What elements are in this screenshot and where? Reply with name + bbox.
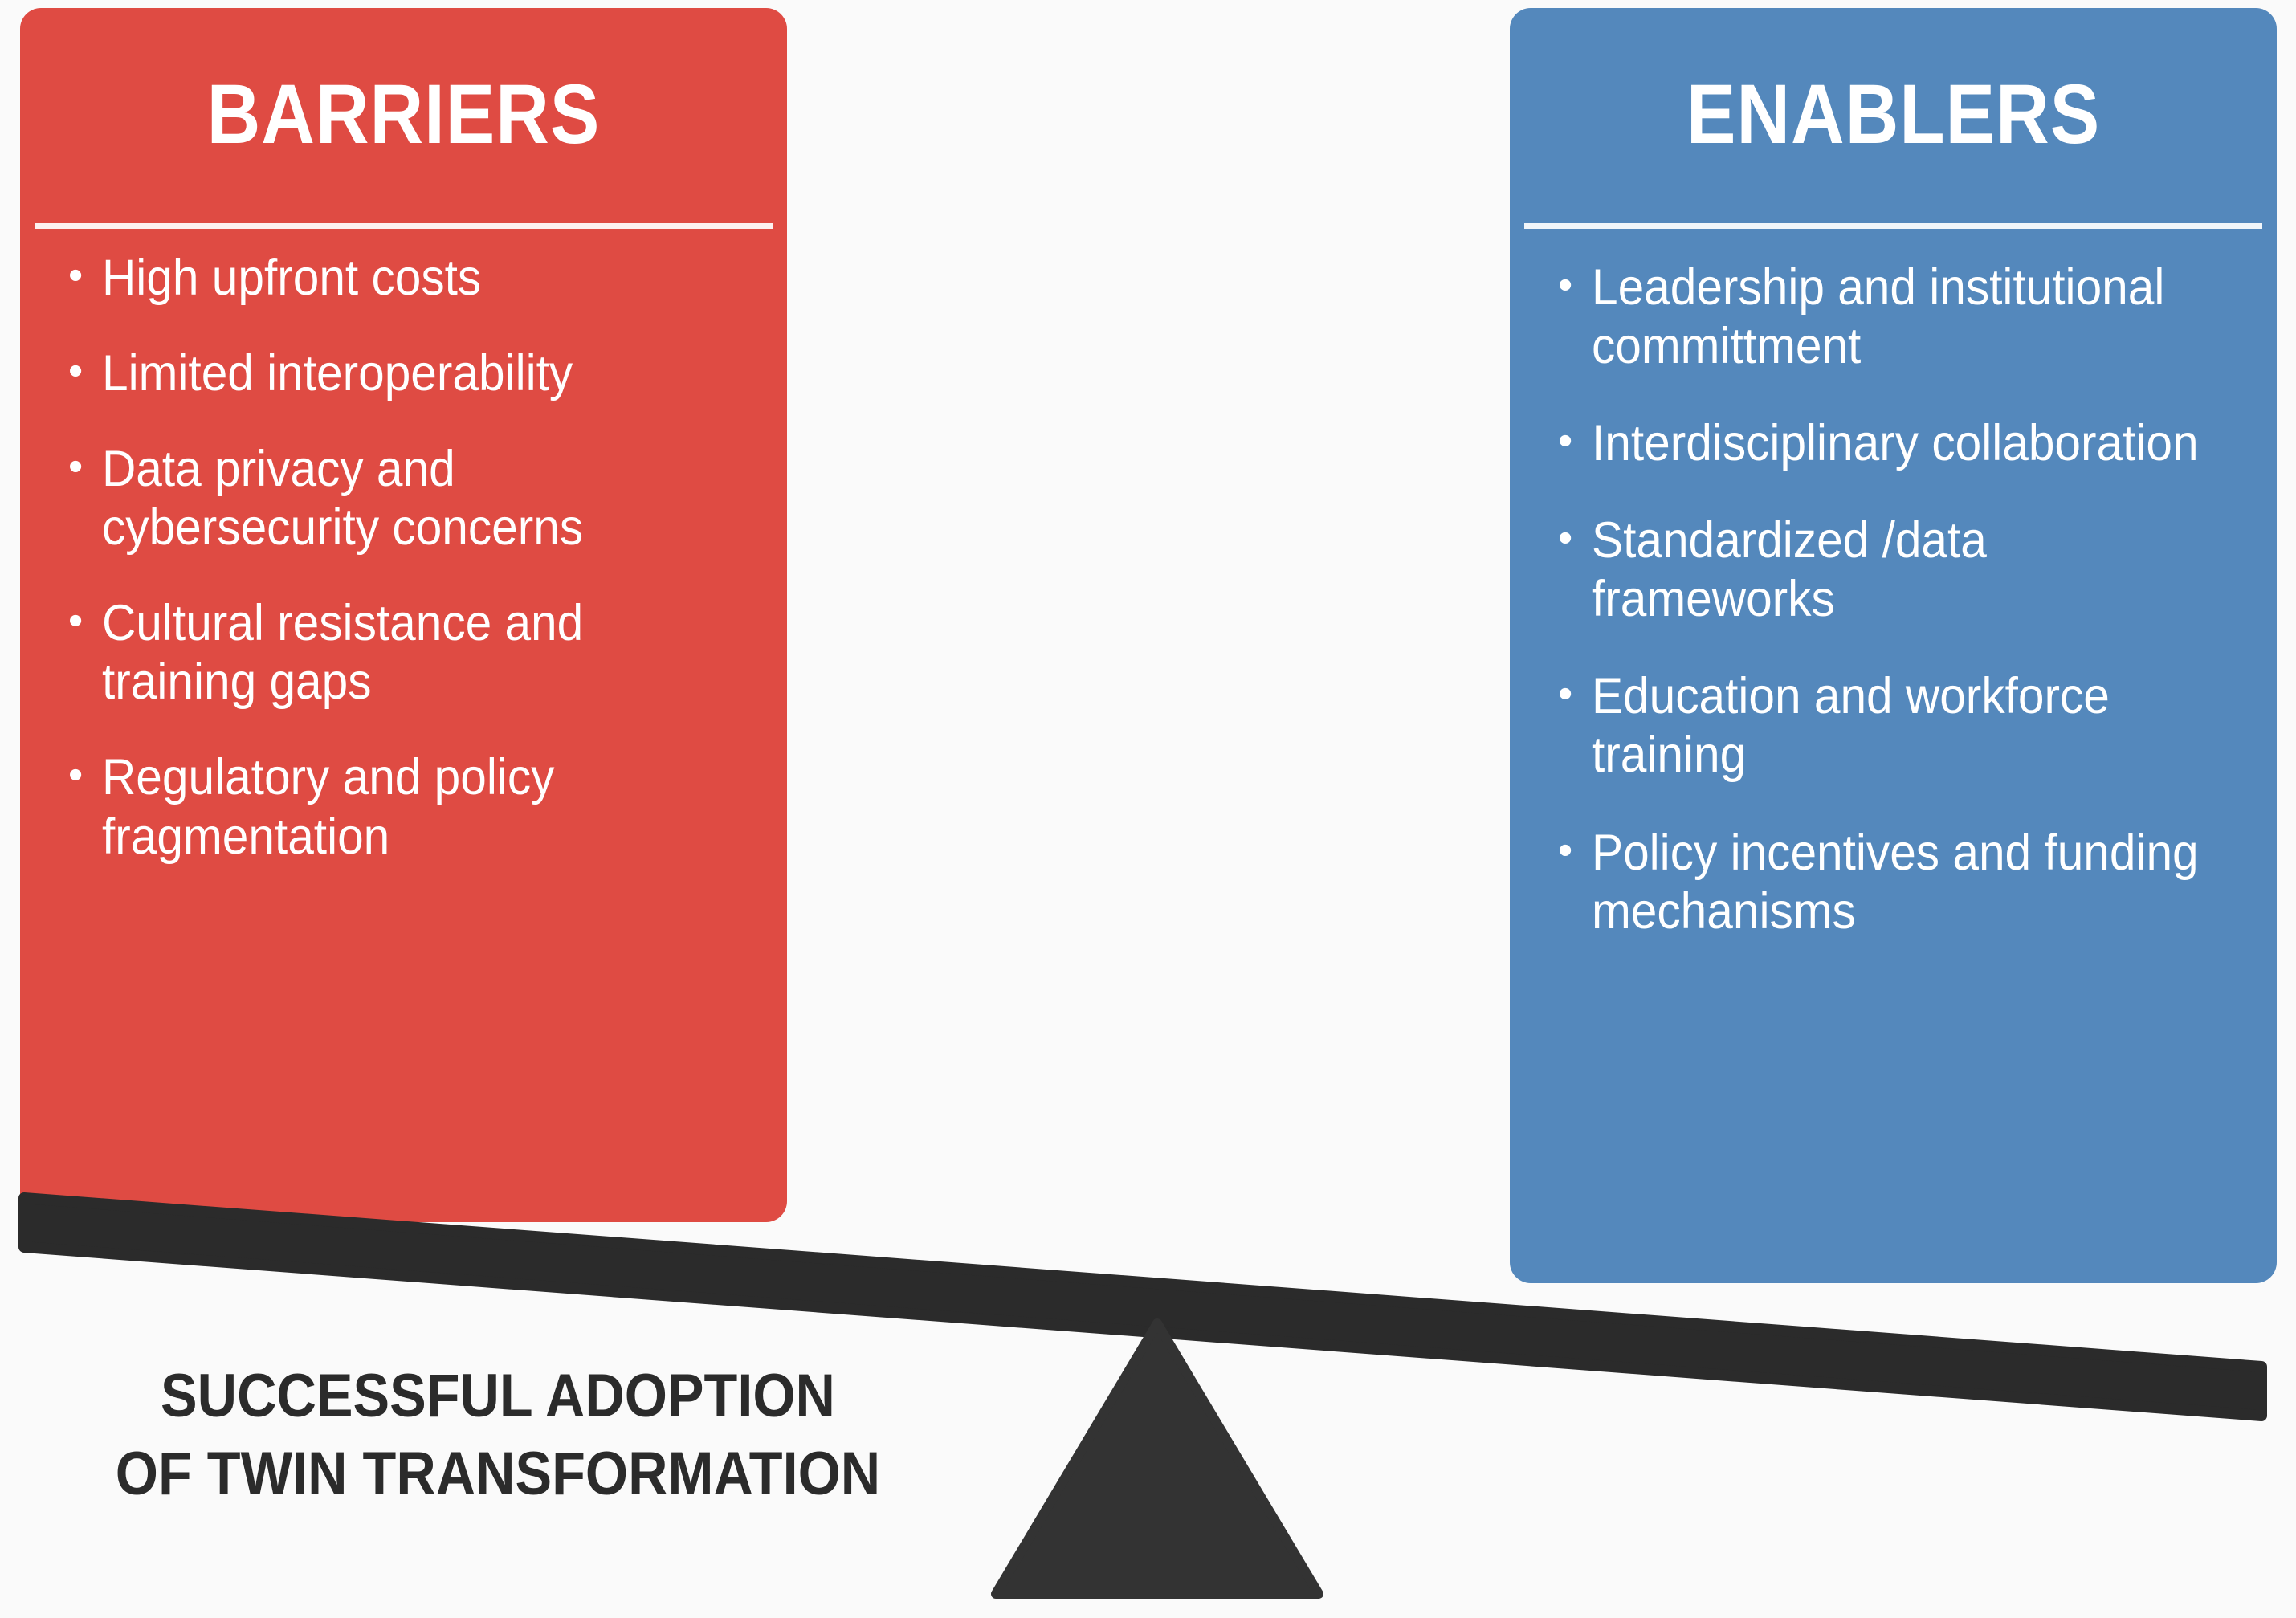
list-item-label: Education and workforce training	[1592, 667, 2206, 785]
list-item-label: Interdisciplinary collaboration	[1592, 414, 2206, 473]
bullet-dot-icon: •	[1558, 667, 1592, 721]
enablers-divider	[1524, 223, 2262, 229]
list-item-label: Policy incentives and funding mechanisms	[1592, 824, 2206, 941]
list-item-label: Data privacy and cybersecurity concerns	[102, 440, 709, 557]
bullet-dot-icon: •	[68, 440, 102, 494]
list-item: • Data privacy and cybersecurity concern…	[68, 440, 755, 557]
bullet-dot-icon: •	[68, 344, 102, 398]
list-item: • Leadership and institutional committme…	[1558, 259, 2253, 376]
enablers-list: • Leadership and institutional committme…	[1510, 259, 2277, 980]
bullet-dot-icon: •	[1558, 259, 1592, 312]
list-item: • Interdisciplinary collaboration	[1558, 414, 2253, 473]
list-item-label: Cultural resistance and training gaps	[102, 594, 709, 711]
barriers-panel: BARRIERS • High upfront costs • Limited …	[20, 8, 787, 1222]
list-item: • Cultural resistance and training gaps	[68, 594, 755, 711]
bullet-dot-icon: •	[1558, 511, 1592, 565]
seesaw-caption: SUCCESSFUL ADOPTION OF TWIN TRANSFORMATI…	[24, 1357, 972, 1514]
list-item-label: Limited interoperability	[102, 344, 709, 403]
barriers-divider	[35, 223, 773, 229]
list-item-label: Standardized /data frameworks	[1592, 511, 2206, 629]
bullet-dot-icon: •	[68, 748, 102, 802]
list-item-label: High upfront costs	[102, 249, 709, 308]
enablers-title: ENABLERS	[1556, 72, 2230, 157]
fulcrum-triangle-icon	[996, 1323, 1319, 1594]
barriers-list: • High upfront costs • Limited interoper…	[20, 249, 787, 903]
list-item: • High upfront costs	[68, 249, 755, 308]
bullet-dot-icon: •	[68, 249, 102, 303]
enablers-panel: ENABLERS • Leadership and institutional …	[1510, 8, 2277, 1283]
list-item-label: Leadership and institutional committment	[1592, 259, 2206, 376]
caption-line-1: SUCCESSFUL ADOPTION	[71, 1357, 924, 1435]
list-item: • Regulatory and policy fragmentation	[68, 748, 755, 866]
bullet-dot-icon: •	[1558, 414, 1592, 468]
list-item-label: Regulatory and policy fragmentation	[102, 748, 709, 866]
enablers-title-area: ENABLERS	[1510, 8, 2277, 221]
bullet-dot-icon: •	[1558, 824, 1592, 878]
bullet-dot-icon: •	[68, 594, 102, 648]
list-item: • Limited interoperability	[68, 344, 755, 403]
list-item: • Policy incentives and funding mechanis…	[1558, 824, 2253, 941]
list-item: • Education and workforce training	[1558, 667, 2253, 785]
list-item: • Standardized /data frameworks	[1558, 511, 2253, 629]
figure-canvas: BARRIERS • High upfront costs • Limited …	[0, 0, 2296, 1618]
barriers-title-area: BARRIERS	[20, 8, 787, 221]
barriers-title: BARRIERS	[66, 72, 740, 157]
caption-line-2: OF TWIN TRANSFORMATION	[71, 1435, 924, 1513]
